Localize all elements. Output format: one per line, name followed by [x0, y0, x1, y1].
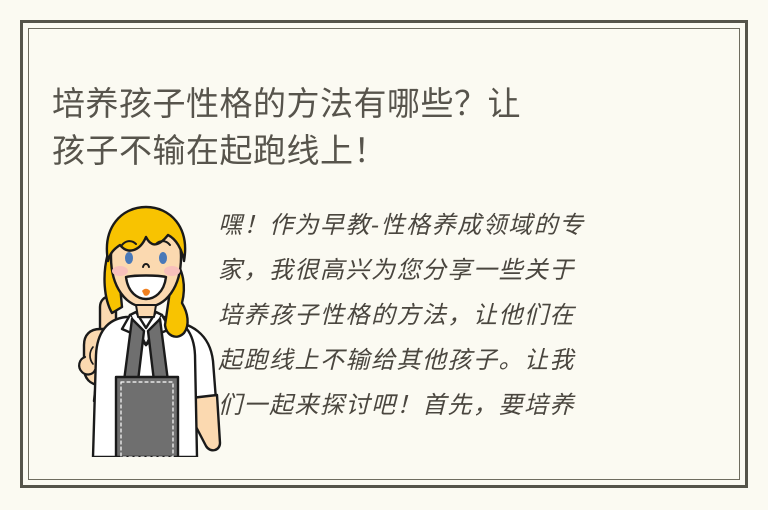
teacher-figure-icon [60, 195, 230, 457]
article-card: 培养孩子性格的方法有哪些？让 孩子不输在起跑线上！ [0, 0, 768, 510]
body-line: 们一起来探讨吧！首先，要培养 [218, 383, 688, 428]
article-body: 嘿！作为早教-性格养成领域的专 家，我很高兴为您分享一些关于 培养孩子性格的方法… [218, 203, 688, 428]
body-line: 嘿！作为早教-性格养成领域的专 [218, 203, 688, 248]
illustration-smiling-teacher-pointing-up [60, 195, 230, 457]
cheek-right [164, 266, 180, 276]
body-line: 培养孩子性格的方法，让他们在 [218, 293, 688, 338]
page-title: 培养孩子性格的方法有哪些？让 孩子不输在起跑线上！ [52, 80, 692, 174]
cheek-left [112, 266, 128, 276]
eye-left [125, 252, 133, 264]
apron-body [116, 377, 178, 457]
body-line: 家，我很高兴为您分享一些关于 [218, 248, 688, 293]
content-area: 嘿！作为早教-性格养成领域的专 家，我很高兴为您分享一些关于 培养孩子性格的方法… [40, 195, 720, 460]
eye-right [159, 252, 167, 264]
neck [136, 305, 156, 317]
body-line: 起跑线上不输给其他孩子。让我 [218, 338, 688, 383]
